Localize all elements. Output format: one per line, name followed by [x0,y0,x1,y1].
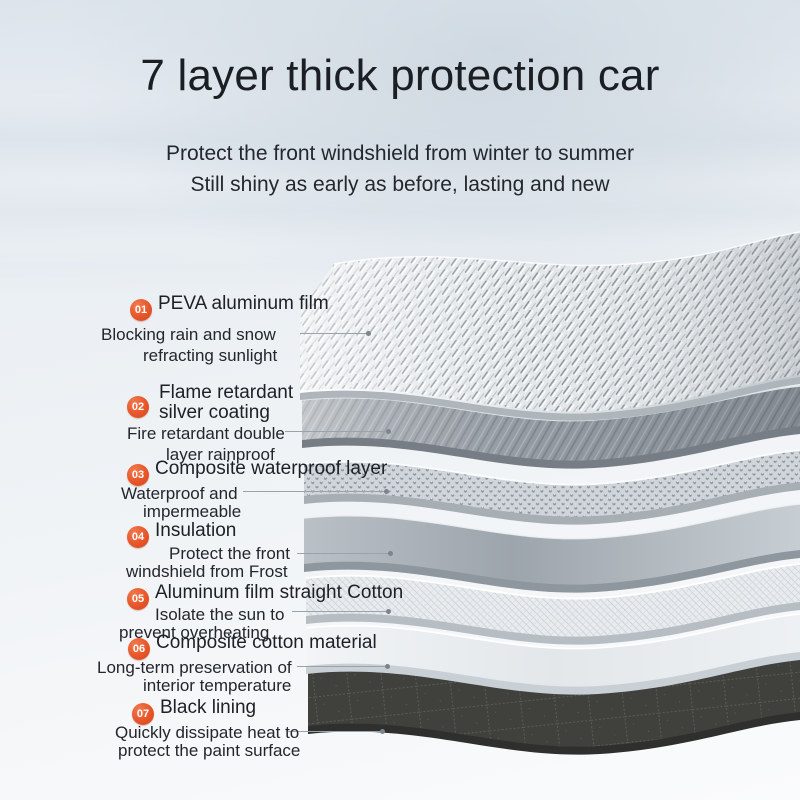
layer-02-badge: 02 [127,396,149,418]
layer-03-name: Composite waterproof layer [155,458,387,479]
layer-02-desc-line-1: Fire retardant double [127,423,285,444]
layer-04-badge: 04 [127,526,149,548]
layer-01-desc-line-2: refracting sunlight [143,345,277,366]
layer-01-desc-line-1: Blocking rain and snow [101,324,276,345]
layer-04-name: Insulation [155,520,236,541]
leader-line-04 [297,553,390,554]
subtitle-line-2: Still shiny as early as before, lasting … [0,170,800,200]
leader-line-02 [285,431,388,432]
layer-06-name: Composite cotton material [156,632,377,653]
leader-line-05 [292,611,388,612]
layer-03-title: 03Composite waterproof layer [127,457,387,486]
leader-line-07 [288,731,382,732]
product-infographic: 7 layer thick protection car Protect the… [0,0,800,800]
sheet-01-peva-aluminum-film [300,232,800,421]
leader-line-03 [243,491,386,492]
layer-02-title-line-2: silver coating [159,401,270,425]
leader-line-01 [300,333,368,334]
subtitle-line-1: Protect the front windshield from winter… [0,139,800,169]
page-title: 7 layer thick protection car [0,48,800,104]
leader-line-06 [297,666,387,667]
layer-05-name: Aluminum film straight Cotton [155,582,403,603]
layer-01-badge: 01 [130,299,152,321]
layer-02-badge-wrap: 02 [127,393,155,418]
layer-01-title: 01PEVA aluminum film [130,292,329,321]
layer-stack-illustration [300,228,800,773]
layer-06-desc-line-2: interior temperature [143,675,291,696]
layer-04-desc-line-2: windshield from Frost [126,561,288,582]
layer-05-badge: 05 [127,588,149,610]
layer-01-name: PEVA aluminum film [158,293,329,314]
layer-07-name: Black lining [160,697,256,718]
layer-07-desc-line-2: protect the paint surface [118,740,300,761]
layer-07-title: 07Black lining [132,696,256,725]
layer-06-title: 06Composite cotton material [128,631,377,660]
